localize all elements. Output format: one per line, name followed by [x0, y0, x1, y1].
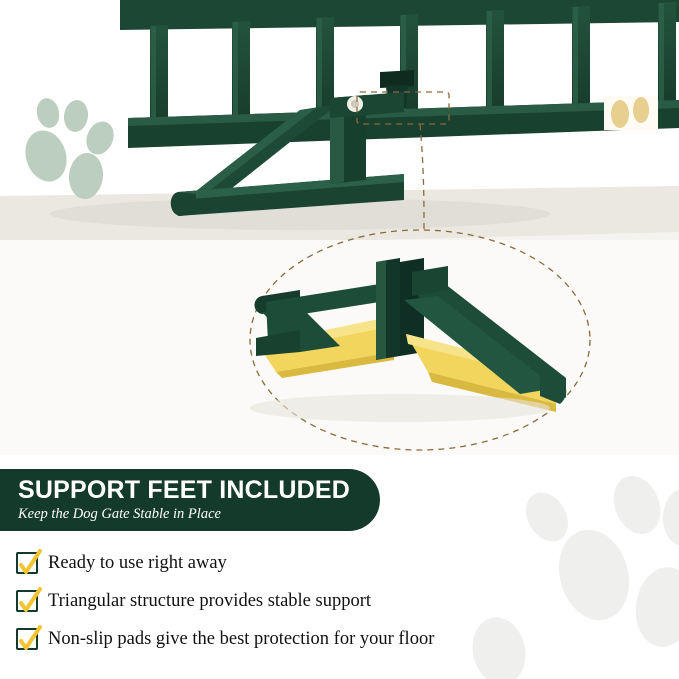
list-item-label: Non-slip pads give the best protection f…	[48, 629, 434, 650]
checkbox-checked-icon	[16, 590, 38, 612]
thumb-screw-icon	[347, 96, 363, 112]
background-panel-gap	[604, 96, 658, 130]
banner-title: SUPPORT FEET INCLUDED	[18, 475, 380, 505]
banner: SUPPORT FEET INCLUDED Keep the Dog Gate …	[0, 469, 380, 531]
list-item: Non-slip pads give the best protection f…	[16, 626, 656, 652]
product-infographic: SUPPORT FEET INCLUDED Keep the Dog Gate …	[0, 0, 679, 679]
list-item-label: Triangular structure provides stable sup…	[48, 591, 371, 612]
checkbox-checked-icon	[16, 628, 38, 650]
list-item: Triangular structure provides stable sup…	[16, 588, 656, 614]
banner-subtitle: Keep the Dog Gate Stable in Place	[18, 505, 380, 523]
checkbox-checked-icon	[16, 552, 38, 574]
list-item: Ready to use right away	[16, 550, 656, 576]
list-item-label: Ready to use right away	[48, 553, 227, 574]
feature-list: Ready to use right away Triangular struc…	[16, 550, 656, 664]
photo-illustration	[0, 0, 679, 455]
feature-text-block: SUPPORT FEET INCLUDED Keep the Dog Gate …	[0, 455, 679, 679]
product-photo	[0, 0, 679, 455]
